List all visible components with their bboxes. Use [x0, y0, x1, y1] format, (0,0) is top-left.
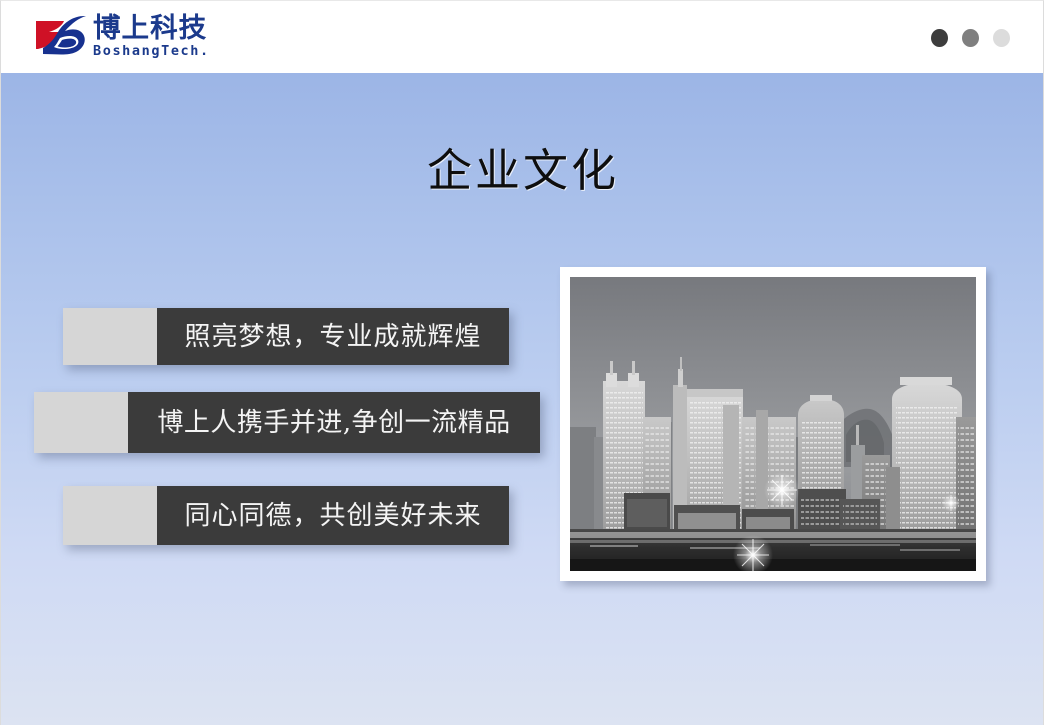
photo-frame	[560, 267, 986, 581]
slogan-accent-block	[63, 486, 157, 545]
slogan-list: 照亮梦想，专业成就辉煌 博上人携手并进,争创一流精品 同心同德，共创美好未来	[1, 73, 561, 725]
slide-body: 企业文化 照亮梦想，专业成就辉煌 博上人携手并进,争创一流精品 同心同德，共创美…	[1, 73, 1044, 725]
header-dot-indicators	[931, 29, 1010, 47]
slogan-text-container: 同心同德，共创美好未来	[157, 486, 509, 545]
presentation-slide: 博上科技 BoshangTech. 企业文化 照亮梦想，专业成就辉煌 博上人	[0, 0, 1044, 725]
slogan-text-container: 博上人携手并进,争创一流精品	[128, 392, 540, 453]
slogan-item: 博上人携手并进,争创一流精品	[34, 392, 540, 453]
slogan-text: 同心同德，共创美好未来	[184, 503, 481, 529]
slogan-item: 照亮梦想，专业成就辉煌	[63, 308, 509, 365]
slogan-text-container: 照亮梦想，专业成就辉煌	[157, 308, 509, 365]
logo-company-name-cn: 博上科技	[93, 15, 212, 42]
city-skyline-night-photo	[570, 277, 976, 571]
dot-medium-icon[interactable]	[962, 29, 979, 47]
company-logo[interactable]: 博上科技 BoshangTech.	[34, 12, 210, 62]
city-skyline-illustration	[570, 277, 976, 571]
logo-company-name-en: BoshangTech.	[93, 45, 210, 59]
dot-dark-icon[interactable]	[931, 29, 948, 47]
slogan-text: 照亮梦想，专业成就辉煌	[184, 324, 481, 350]
slide-header: 博上科技 BoshangTech.	[1, 1, 1044, 73]
dot-light-icon[interactable]	[993, 29, 1010, 47]
slogan-accent-block	[63, 308, 157, 365]
boshang-b-logo-icon	[34, 14, 88, 60]
slogan-text: 博上人携手并进,争创一流精品	[157, 410, 510, 436]
slogan-accent-block	[34, 392, 128, 453]
logo-wordmark: 博上科技 BoshangTech.	[93, 15, 210, 59]
slogan-item: 同心同德，共创美好未来	[63, 486, 509, 545]
